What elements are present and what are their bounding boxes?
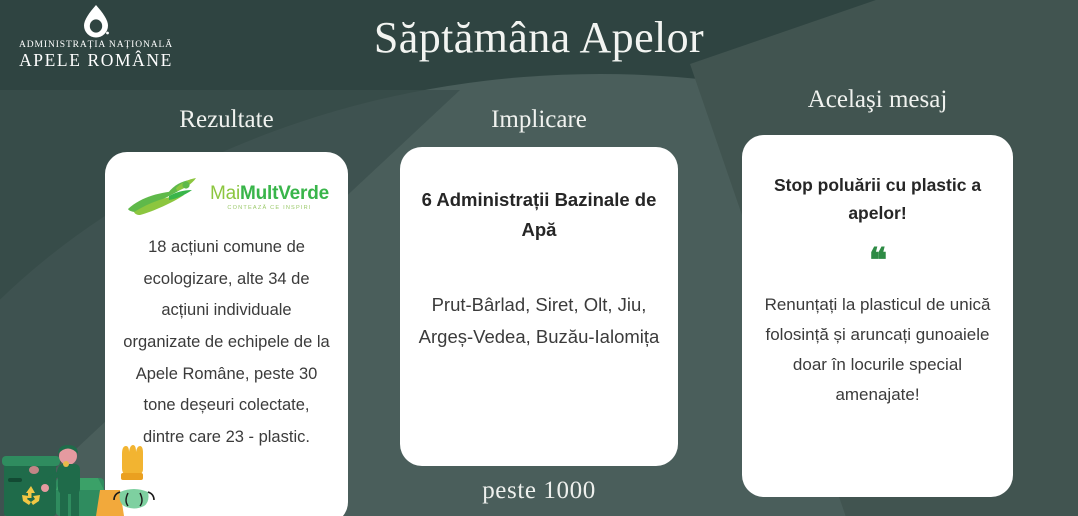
card-implicare-basins-list: Prut-Bârlad, Siret, Olt, Jiu, Argeș-Vede…: [418, 289, 660, 353]
partner-name-part1: Mai: [210, 183, 240, 204]
column-heading-implicare: Implicare: [400, 106, 678, 134]
card-acelasi-mesaj-title: Stop poluării cu plastic a apelor!: [758, 171, 997, 228]
implicare-caption: peste 1000: [400, 477, 678, 505]
partner-tagline: CONTEAZĂ CE INSPIRI: [210, 206, 329, 212]
maimultverde-leaf-icon: [124, 176, 206, 220]
partner-name: MaiMultVerde: [210, 184, 329, 203]
card-implicare: 6 Administrații Bazinale de Apă Prut-Bâr…: [400, 147, 678, 466]
partner-name-part2: Mult: [240, 183, 278, 204]
infographic-slide: Administrația Națională Apele Române Săp…: [0, 0, 1078, 516]
gloves-icon: [121, 445, 143, 480]
column-heading-acelasi-mesaj: Acelaşi mesaj: [742, 86, 1013, 114]
quotation-mark-icon: ❝: [758, 252, 997, 272]
card-acelasi-mesaj: Stop poluării cu plastic a apelor! ❝ Ren…: [742, 135, 1013, 497]
column-heading-rezultate: Rezultate: [105, 106, 348, 134]
partner-name-part3: Verde: [278, 183, 329, 204]
recycling-worker-illustration: [0, 438, 172, 516]
card-rezultate-body: 18 acțiuni comune de ecologizare, alte 3…: [119, 232, 334, 454]
partner-logo-maimultverde: MaiMultVerde CONTEAZĂ CE INSPIRI: [119, 176, 334, 220]
card-implicare-title: 6 Administrații Bazinale de Apă: [418, 185, 660, 245]
card-acelasi-mesaj-body: Renunțați la plasticul de unică folosinț…: [758, 290, 997, 410]
page-title: Săptămâna Apelor: [0, 14, 1078, 62]
partner-logo-wordmark: MaiMultVerde CONTEAZĂ CE INSPIRI: [210, 184, 329, 212]
